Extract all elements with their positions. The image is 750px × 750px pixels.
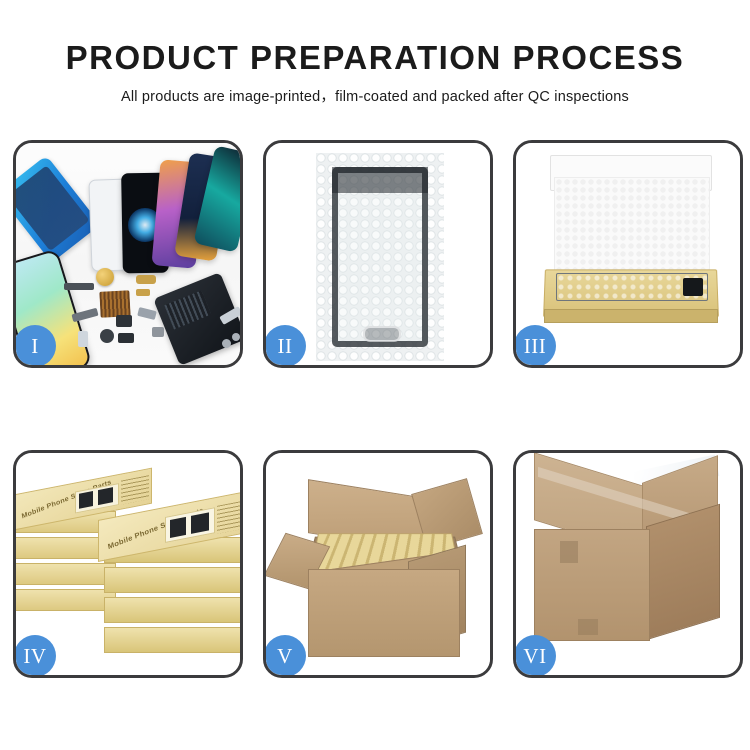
foam-padding-icon [554, 177, 710, 279]
box-product-photo-icon [165, 507, 215, 543]
process-step-panel-3: III [513, 140, 743, 368]
kraft-box-icon [16, 563, 116, 585]
spare-part-icon [152, 327, 164, 337]
spare-part-icon [100, 329, 114, 343]
spare-part-icon [136, 275, 156, 284]
process-step-panel-2: II [263, 140, 493, 368]
kraft-box-icon [104, 567, 240, 593]
step-badge-1: I [14, 325, 56, 367]
step-badge-4: IV [14, 635, 56, 677]
spare-part-icon [78, 331, 88, 347]
packed-screen-icon [556, 273, 708, 301]
box-product-photo-icon [75, 483, 119, 514]
process-step-panel-6: VI [513, 450, 743, 678]
box-spec-lines-icon [121, 475, 149, 504]
process-step-panel-1: I [13, 140, 243, 368]
step-badge-5: V [264, 635, 306, 677]
process-steps-grid: I II III [13, 140, 738, 678]
process-step-panel-5: V [263, 450, 493, 678]
spare-part-icon [64, 283, 94, 290]
carton-handle-tab-icon [578, 619, 598, 635]
home-button-bar-icon [332, 317, 428, 347]
process-step-panel-4: Mobile Phone Spare Parts Mobile Phone Sp… [13, 450, 243, 678]
screw-icon [222, 339, 231, 348]
chip-grid-icon [99, 290, 130, 318]
page-title: PRODUCT PREPARATION PROCESS [0, 38, 750, 78]
phone-glass-panel-icon [332, 167, 428, 347]
carton-handle-tab-icon [560, 541, 578, 563]
spare-part-icon [118, 333, 134, 343]
spare-part-icon [116, 315, 132, 327]
copper-coil-icon [96, 268, 114, 286]
product-preparation-process-page: PRODUCT PREPARATION PROCESS All products… [0, 0, 750, 750]
step-badge-2: II [264, 325, 306, 367]
spare-part-icon [136, 289, 150, 296]
kraft-box-icon [104, 597, 240, 623]
page-subtitle: All products are image-printed，film-coat… [0, 87, 750, 107]
kraft-box-icon [104, 627, 240, 653]
tray-front-edge-icon [544, 309, 718, 323]
screw-icon [232, 333, 240, 341]
header: PRODUCT PREPARATION PROCESS All products… [0, 0, 750, 107]
carton-body-icon [308, 569, 460, 657]
bubble-wrap-icon [316, 153, 444, 361]
kraft-box-icon [16, 589, 116, 611]
carton-side-icon [646, 504, 720, 641]
step-badge-6: VI [514, 635, 556, 677]
step-badge-3: III [514, 325, 556, 367]
box-spec-lines-icon [217, 500, 240, 534]
